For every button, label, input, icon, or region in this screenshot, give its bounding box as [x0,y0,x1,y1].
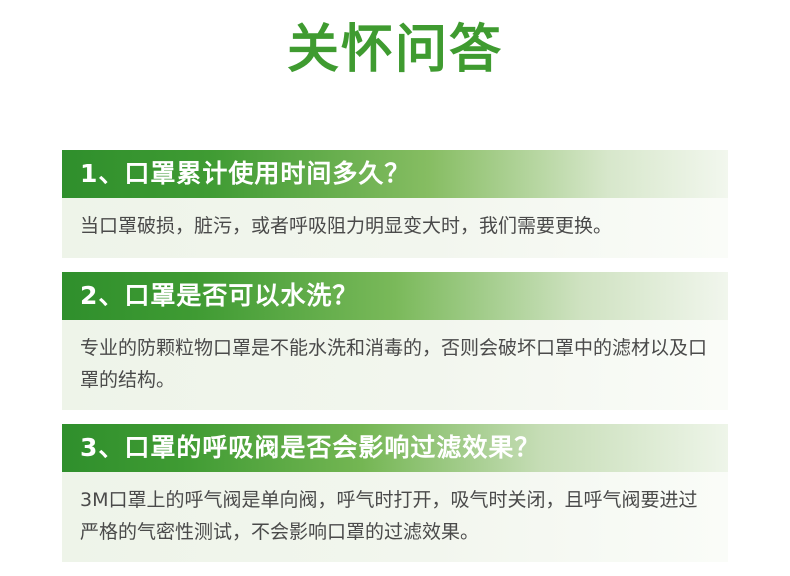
faq-answer-2: 专业的防颗粒物口罩是不能水洗和消毒的，否则会破坏口罩中的滤材以及口罩的结构。 [62,320,728,410]
faq-page: 关怀问答 1、口罩累计使用时间多久？ 当口罩破损，脏污，或者呼吸阻力明显变大时，… [0,0,790,539]
faq-question-3: 3、口罩的呼吸阀是否会影响过滤效果？ [62,424,728,472]
faq-answer-3: 3M口罩上的呼气阀是单向阀，呼气时打开，吸气时关闭，且呼气阀要进过严格的气密性测… [62,472,728,562]
faq-answer-1: 当口罩破损，脏污，或者呼吸阻力明显变大时，我们需要更换。 [62,198,728,258]
faq-item-2: 2、口罩是否可以水洗？ 专业的防颗粒物口罩是不能水洗和消毒的，否则会破坏口罩中的… [62,272,728,410]
faq-list: 1、口罩累计使用时间多久？ 当口罩破损，脏污，或者呼吸阻力明显变大时，我们需要更… [62,150,728,576]
faq-question-2: 2、口罩是否可以水洗？ [62,272,728,320]
faq-item-1: 1、口罩累计使用时间多久？ 当口罩破损，脏污，或者呼吸阻力明显变大时，我们需要更… [62,150,728,258]
faq-question-1: 1、口罩累计使用时间多久？ [62,150,728,198]
faq-item-3: 3、口罩的呼吸阀是否会影响过滤效果？ 3M口罩上的呼气阀是单向阀，呼气时打开，吸… [62,424,728,562]
page-title: 关怀问答 [0,18,790,82]
